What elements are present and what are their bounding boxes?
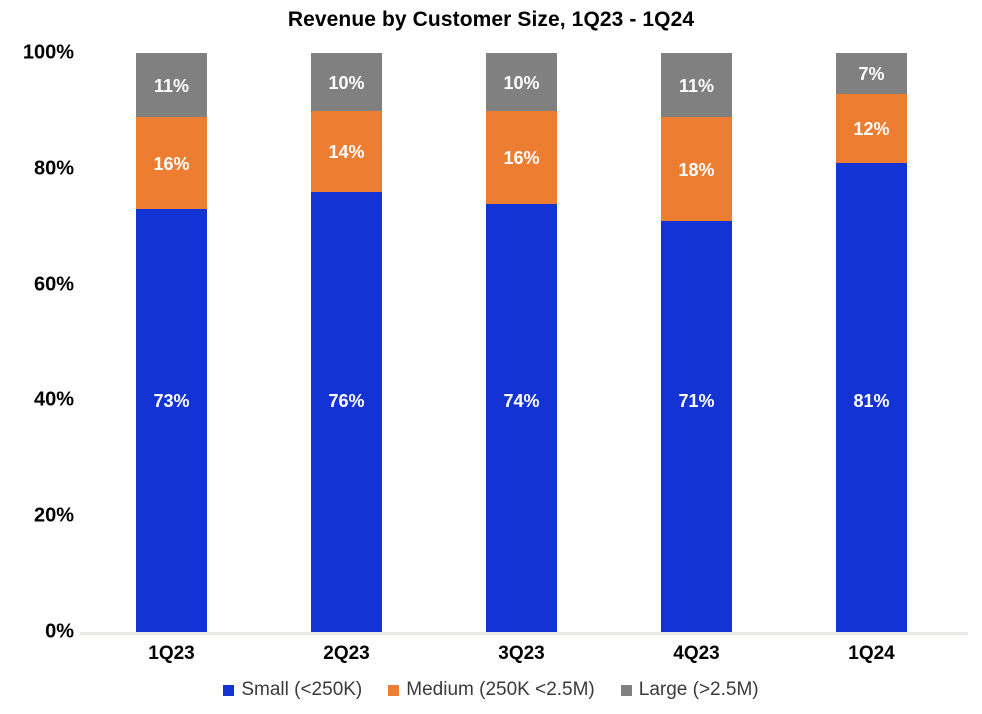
data-label-3q23-large: 10%	[486, 73, 557, 94]
legend-label: Small (<250K)	[241, 679, 362, 701]
bar-group-1q23[interactable]: 73%16%11%	[136, 53, 207, 632]
y-axis: 100%80%60%40%20%0%	[0, 53, 74, 632]
data-label-1q23-large: 11%	[136, 76, 207, 97]
x-axis-tick-4q23: 4Q23	[637, 643, 757, 665]
data-label-1q24-small: 81%	[836, 391, 907, 412]
data-label-1q23-medium: 16%	[136, 154, 207, 175]
y-axis-tick-100: 100%	[0, 42, 74, 65]
bar-segment-4q23-small[interactable]	[661, 221, 732, 632]
bar-segment-1q23-small[interactable]	[136, 209, 207, 632]
legend-item-small[interactable]: Small (<250K)	[223, 679, 362, 701]
data-label-1q23-small: 73%	[136, 391, 207, 412]
x-axis-tick-2q23: 2Q23	[287, 643, 407, 665]
data-label-2q23-small: 76%	[311, 391, 382, 412]
chart-title: Revenue by Customer Size, 1Q23 - 1Q24	[0, 8, 982, 32]
legend-item-large[interactable]: Large (>2.5M)	[621, 679, 759, 701]
bar-group-4q23[interactable]: 71%18%11%	[661, 53, 732, 632]
legend-label: Medium (250K <2.5M)	[406, 679, 595, 701]
data-label-2q23-large: 10%	[311, 73, 382, 94]
x-axis-line	[80, 632, 968, 635]
bar-segment-3q23-small[interactable]	[486, 204, 557, 632]
data-label-4q23-small: 71%	[661, 391, 732, 412]
chart-legend: Small (<250K)Medium (250K <2.5M)Large (>…	[0, 679, 982, 701]
data-label-1q24-large: 7%	[836, 64, 907, 85]
data-label-3q23-small: 74%	[486, 391, 557, 412]
legend-swatch-icon	[223, 685, 234, 696]
x-axis-tick-1q24: 1Q24	[812, 643, 932, 665]
legend-swatch-icon	[621, 685, 632, 696]
plot-area: 73%16%11%76%14%10%74%16%10%71%18%11%81%1…	[80, 53, 968, 632]
legend-swatch-icon	[388, 685, 399, 696]
legend-item-medium[interactable]: Medium (250K <2.5M)	[388, 679, 595, 701]
x-axis-tick-3q23: 3Q23	[462, 643, 582, 665]
chart-container: Revenue by Customer Size, 1Q23 - 1Q24 10…	[0, 0, 982, 714]
y-axis-tick-20: 20%	[0, 505, 74, 528]
legend-label: Large (>2.5M)	[639, 679, 759, 701]
y-axis-tick-80: 80%	[0, 157, 74, 180]
data-label-2q23-medium: 14%	[311, 142, 382, 163]
bar-group-2q23[interactable]: 76%14%10%	[311, 53, 382, 632]
bar-group-1q24[interactable]: 81%12%7%	[836, 53, 907, 632]
bar-group-3q23[interactable]: 74%16%10%	[486, 53, 557, 632]
x-axis-tick-1q23: 1Q23	[112, 643, 232, 665]
y-axis-tick-40: 40%	[0, 389, 74, 412]
y-axis-tick-60: 60%	[0, 273, 74, 296]
y-axis-tick-0: 0%	[0, 621, 74, 644]
data-label-3q23-medium: 16%	[486, 148, 557, 169]
data-label-4q23-large: 11%	[661, 76, 732, 97]
data-label-4q23-medium: 18%	[661, 160, 732, 181]
data-label-1q24-medium: 12%	[836, 119, 907, 140]
